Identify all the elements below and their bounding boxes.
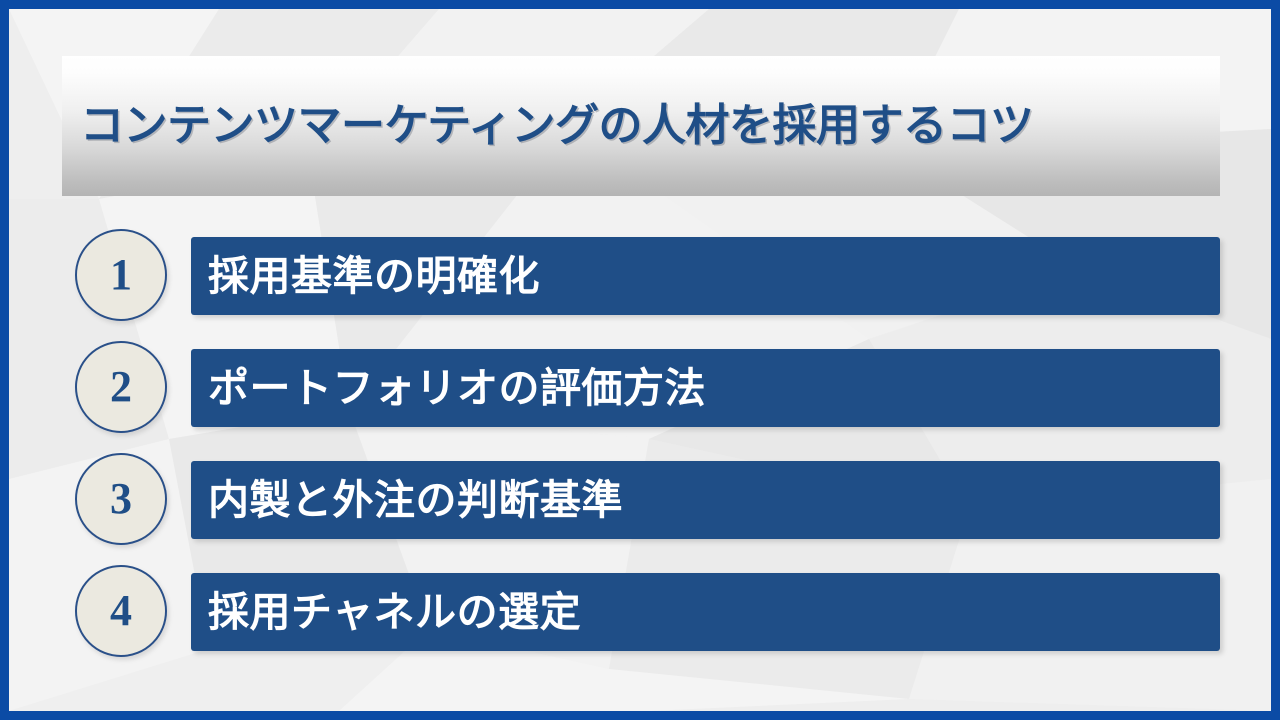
slide-canvas: コンテンツマーケティングの人材を採用するコツ 1 採用基準の明確化 2 ポートフ… [9, 9, 1271, 711]
step-bar[interactable]: 採用チャネルの選定 [191, 573, 1220, 651]
step-bar[interactable]: 採用基準の明確化 [191, 237, 1220, 315]
step-bar[interactable]: ポートフォリオの評価方法 [191, 349, 1220, 427]
step-number-label: 1 [110, 253, 132, 297]
step-number-label: 4 [110, 589, 132, 633]
step-label: ポートフォリオの評価方法 [191, 368, 706, 409]
step-number-badge: 1 [75, 229, 167, 321]
step-number-badge: 2 [75, 341, 167, 433]
step-label: 内製と外注の判断基準 [191, 480, 623, 521]
step-label: 採用チャネルの選定 [191, 592, 581, 633]
step-number-label: 3 [110, 477, 132, 521]
list-item[interactable]: 3 内製と外注の判断基準 [62, 443, 1220, 555]
step-list: 1 採用基準の明確化 2 ポートフォリオの評価方法 3 内製 [62, 219, 1220, 667]
step-label: 採用基準の明確化 [191, 256, 540, 297]
slide-title-bar: コンテンツマーケティングの人材を採用するコツ [62, 56, 1220, 196]
page-title: コンテンツマーケティングの人材を採用するコツ [62, 104, 1033, 148]
step-bar[interactable]: 内製と外注の判断基準 [191, 461, 1220, 539]
step-number-badge: 3 [75, 453, 167, 545]
step-number-badge: 4 [75, 565, 167, 657]
step-number-label: 2 [110, 365, 132, 409]
slide-outer-border: コンテンツマーケティングの人材を採用するコツ 1 採用基準の明確化 2 ポートフ… [0, 0, 1280, 720]
list-item[interactable]: 1 採用基準の明確化 [62, 219, 1220, 331]
list-item[interactable]: 4 採用チャネルの選定 [62, 555, 1220, 667]
list-item[interactable]: 2 ポートフォリオの評価方法 [62, 331, 1220, 443]
